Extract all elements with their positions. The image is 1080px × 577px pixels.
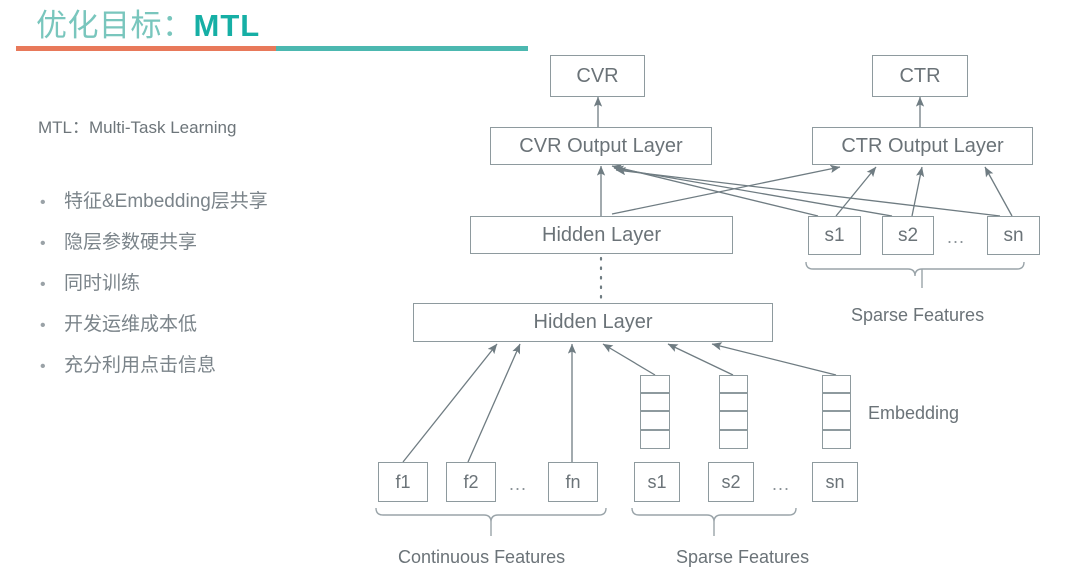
hidden-layer-top-label: Hidden Layer: [542, 224, 661, 247]
slide-canvas: 优化目标：MTL MTL：Multi-Task Learning • 特征&Em…: [0, 0, 1080, 577]
sparse-top-ellipsis: ...: [947, 227, 965, 248]
cvr-node-label: CVR: [576, 65, 618, 88]
cvr-output-layer-node[interactable]: CVR Output Layer: [490, 127, 712, 165]
embedding-cell: [719, 393, 748, 411]
sparse-bottom-item-label: s1: [647, 472, 666, 493]
sparse-bottom-item-s2[interactable]: s2: [708, 462, 754, 502]
sparse-bottom-item-s1[interactable]: s1: [634, 462, 680, 502]
hidden-layer-bottom-label: Hidden Layer: [534, 311, 653, 334]
continuous-item-fn[interactable]: fn: [548, 462, 598, 502]
sparse-bottom-ellipsis: ...: [772, 474, 790, 495]
embedding-cell: [822, 411, 851, 430]
embedding-cell: [822, 430, 851, 449]
continuous-features-caption: Continuous Features: [398, 547, 565, 568]
continuous-item-f1[interactable]: f1: [378, 462, 428, 502]
embedding-cell: [822, 375, 851, 393]
sparse-bottom-item-label: s2: [721, 472, 740, 493]
ctr-output-layer-node[interactable]: CTR Output Layer: [812, 127, 1033, 165]
ctr-node[interactable]: CTR: [872, 55, 968, 97]
embedding-cell: [719, 375, 748, 393]
cvr-output-layer-label: CVR Output Layer: [519, 135, 682, 158]
sparse-bottom-item-sn[interactable]: sn: [812, 462, 858, 502]
sparse-bottom-item-label: sn: [825, 472, 844, 493]
embedding-cell: [640, 411, 670, 430]
continuous-item-label: f1: [395, 472, 410, 493]
embedding-cell: [719, 430, 748, 449]
continuous-item-f2[interactable]: f2: [446, 462, 496, 502]
ctr-node-label: CTR: [899, 65, 940, 88]
ctr-output-layer-label: CTR Output Layer: [841, 135, 1003, 158]
continuous-item-label: f2: [463, 472, 478, 493]
hidden-layer-top-node[interactable]: Hidden Layer: [470, 216, 733, 254]
sparse-top-item-label: s2: [898, 225, 918, 247]
continuous-item-label: fn: [565, 472, 580, 493]
embedding-cell: [822, 393, 851, 411]
embedding-cell: [640, 430, 670, 449]
embedding-caption: Embedding: [868, 403, 959, 424]
embedding-cell: [640, 393, 670, 411]
hidden-layer-bottom-node[interactable]: Hidden Layer: [413, 303, 773, 342]
sparse-top-item-label: sn: [1003, 225, 1023, 247]
sparse-top-caption: Sparse Features: [851, 305, 984, 326]
sparse-top-item-s1[interactable]: s1: [808, 216, 861, 255]
embedding-cell: [719, 411, 748, 430]
sparse-bottom-caption: Sparse Features: [676, 547, 809, 568]
continuous-ellipsis: ...: [509, 474, 527, 495]
embedding-cell: [640, 375, 670, 393]
sparse-top-item-sn[interactable]: sn: [987, 216, 1040, 255]
sparse-top-item-s2[interactable]: s2: [882, 216, 934, 255]
cvr-node[interactable]: CVR: [550, 55, 645, 97]
sparse-top-item-label: s1: [824, 225, 844, 247]
